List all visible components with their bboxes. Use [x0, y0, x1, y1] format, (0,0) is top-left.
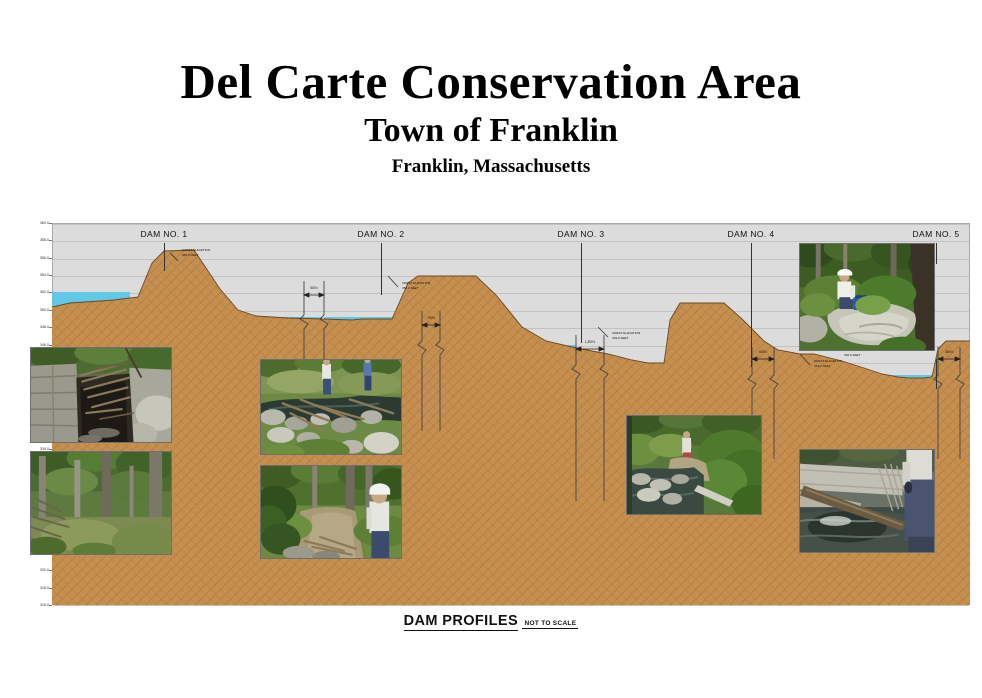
photo-dam3-trail	[260, 465, 402, 559]
dam-label-3: DAM NO. 3	[557, 229, 604, 239]
distance-label-1: 500'±	[310, 286, 318, 290]
photo-dam4-crossing	[626, 415, 762, 515]
caption-title: DAM PROFILES	[404, 613, 518, 631]
caption-subtitle: NOT TO SCALE	[524, 620, 576, 627]
distance-label-4: 600'±	[759, 350, 767, 354]
y-axis-tick-label: 358.0	[40, 238, 49, 242]
photo-dam5-outcrop	[799, 243, 935, 351]
page-location: Franklin, Massachusetts	[0, 156, 982, 179]
dam-leader-1	[164, 243, 165, 271]
dam-leader-5-upper	[936, 243, 937, 264]
dam-label-1: DAM NO. 1	[140, 229, 187, 239]
distance-label-2: 750'±	[427, 316, 435, 320]
dam-label-2: DAM NO. 2	[357, 229, 404, 239]
y-axis-tick-label: 350.0	[40, 308, 49, 312]
y-axis-tick-label: 352.0	[40, 290, 49, 294]
dam-label-5: DAM NO. 5	[912, 229, 959, 239]
distance-label-5: 380'±	[945, 350, 953, 354]
figure-caption: DAM PROFILES NOT TO SCALE	[0, 612, 982, 631]
page-title: Del Carte Conservation Area	[0, 56, 982, 107]
y-axis-tick-label: 318.0	[40, 586, 49, 590]
y-axis-tick-label: 316.0	[40, 603, 49, 607]
crest-callout-2: CREST ELEVATION 351.2 FEET	[402, 281, 430, 290]
dam-leader-5-lower	[936, 359, 937, 389]
photo-dam1-woods	[30, 451, 172, 555]
dam-label-4: DAM NO. 4	[727, 229, 774, 239]
photo-dam5-outlet	[799, 449, 935, 553]
page-subtitle: Town of Franklin	[0, 111, 982, 150]
photo-dam2-stream	[260, 359, 402, 455]
distance-label-3: 1,300'±	[585, 340, 595, 344]
y-axis-tick-label: 348.0	[40, 325, 49, 329]
crest-callout-4: CREST ELEVATION 341.2 FEET	[814, 359, 842, 368]
y-axis-tick-label: 320.0	[40, 568, 49, 572]
y-axis-tick-mark	[49, 605, 52, 606]
y-axis-tick-label: 354.0	[40, 273, 49, 277]
crest-callout-1: CREST ELEVATION 354.5 FEET	[182, 248, 210, 257]
dam-profile-drawing: 360.0358.0356.0354.0352.0350.0348.0346.0…	[18, 223, 970, 605]
gridline	[53, 605, 969, 606]
y-axis-tick-label: 360.0	[40, 221, 49, 225]
photo-dam1-spillway	[30, 347, 172, 443]
dam-leader-4	[751, 243, 752, 367]
dam-leader-3	[581, 243, 582, 343]
poster-sheet: Del Carte Conservation Area Town of Fran…	[0, 0, 982, 698]
y-axis-tick-label: 356.0	[40, 256, 49, 260]
title-block: Del Carte Conservation Area Town of Fran…	[0, 56, 982, 178]
dam-leader-2	[381, 243, 382, 295]
crest-callout-3: CREST ELEVATION 349.0 FEET	[612, 331, 640, 340]
